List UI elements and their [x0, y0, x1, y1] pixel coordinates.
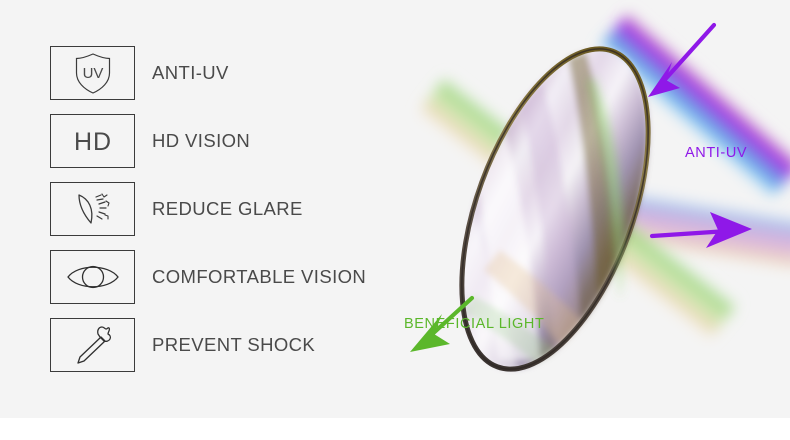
- beneficial-light-label: BENEFICIAL LIGHT: [404, 316, 544, 332]
- feature-label: HD VISION: [152, 130, 250, 152]
- feature-label: ANTI-UV: [152, 62, 229, 84]
- feature-label: REDUCE GLARE: [152, 198, 303, 220]
- eye-icon-box: [50, 250, 135, 304]
- svg-text:UV: UV: [82, 65, 103, 82]
- hammer-icon-box: [50, 318, 135, 372]
- hd-text-icon-box: HD: [50, 114, 135, 168]
- feature-label: PREVENT SHOCK: [152, 334, 315, 356]
- hammer-icon: [70, 323, 116, 367]
- feature-row: PREVENT SHOCK: [50, 318, 430, 372]
- anti-uv-beam-label: ANTI-UV: [685, 145, 747, 161]
- product-feature-graphic: UV ANTI-UV HD HD VISION RED: [0, 0, 790, 440]
- feature-row: UV ANTI-UV: [50, 46, 430, 100]
- hd-text-icon: HD: [68, 121, 118, 161]
- feature-row: REDUCE GLARE: [50, 182, 430, 236]
- glare-deflect-icon: [69, 188, 117, 230]
- feature-label: COMFORTABLE VISION: [152, 266, 366, 288]
- coated-lens-light-diagram: [380, 0, 790, 418]
- glare-deflect-icon-box: [50, 182, 135, 236]
- uv-shield-icon: UV: [69, 51, 117, 95]
- feature-row: HD HD VISION: [50, 114, 430, 168]
- uv-shield-icon-box: UV: [50, 46, 135, 100]
- feature-list: UV ANTI-UV HD HD VISION RED: [50, 46, 430, 386]
- feature-row: COMFORTABLE VISION: [50, 250, 430, 304]
- eye-icon: [64, 260, 122, 294]
- svg-text:HD: HD: [73, 128, 111, 156]
